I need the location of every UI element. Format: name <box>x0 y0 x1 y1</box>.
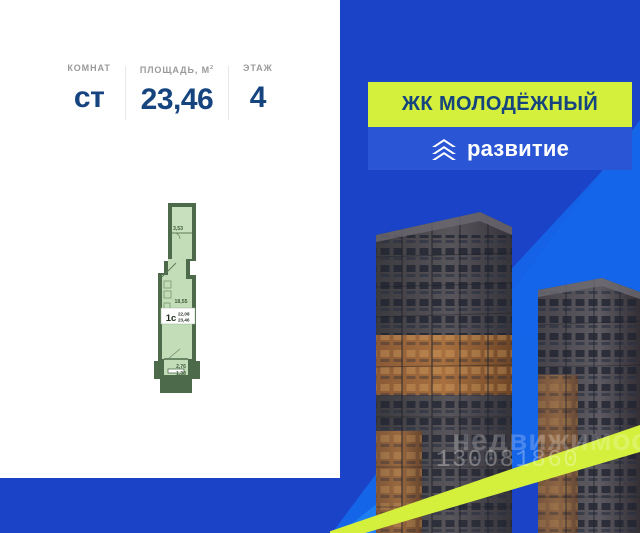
stat-floor: ЭТАЖ 4 <box>229 62 287 118</box>
plan-room-area-bath: 3,53 <box>173 226 183 232</box>
triple-chevron-icon <box>431 138 457 160</box>
complex-name-banner: ЖК МОЛОДЁЖНЫЙ <box>368 82 632 127</box>
stat-rooms: КОМНАТ ст <box>53 62 124 118</box>
plan-balcony-area-raw: 2,76 <box>176 364 186 370</box>
stat-area-label-text: ПЛОЩАДЬ, М <box>140 65 210 75</box>
floorplan-svg: 3,53 18,55 1с 22,08 23,46 2,76 1,38 <box>148 203 210 393</box>
developer-banner[interactable]: развитие <box>368 127 632 170</box>
stat-area-value: 23,46 <box>141 80 214 120</box>
lime-diagonal-stripe <box>330 380 640 533</box>
stat-area-label-sup: 2 <box>210 65 214 71</box>
developer-name: развитие <box>467 137 569 161</box>
plan-unit-type: 1с <box>166 313 177 324</box>
stripe-shape <box>330 380 640 533</box>
plan-balcony-area-calc: 1,38 <box>176 371 186 377</box>
plan-room-area-living: 18,55 <box>175 299 188 305</box>
stripe-poly <box>330 425 640 533</box>
stat-rooms-label: КОМНАТ <box>67 62 110 74</box>
stat-rooms-value: ст <box>74 78 104 118</box>
stat-area-label: ПЛОЩАДЬ, М2 <box>140 62 214 76</box>
brand-block: ЖК МОЛОДЁЖНЫЙ развитие <box>368 82 632 170</box>
plan-area-total: 22,08 <box>178 312 190 317</box>
stat-area: ПЛОЩАДЬ, М2 23,46 <box>126 62 228 120</box>
stat-floor-label: ЭТАЖ <box>243 62 273 74</box>
stats-row: КОМНАТ ст ПЛОЩАДЬ, М2 23,46 ЭТАЖ 4 <box>0 62 340 132</box>
stat-floor-value: 4 <box>250 78 266 118</box>
floorplan[interactable]: 3,53 18,55 1с 22,08 23,46 2,76 1,38 <box>148 203 210 393</box>
plan-area-full: 23,46 <box>178 318 190 323</box>
listing-card: КОМНАТ ст ПЛОЩАДЬ, М2 23,46 ЭТАЖ 4 <box>0 0 340 478</box>
